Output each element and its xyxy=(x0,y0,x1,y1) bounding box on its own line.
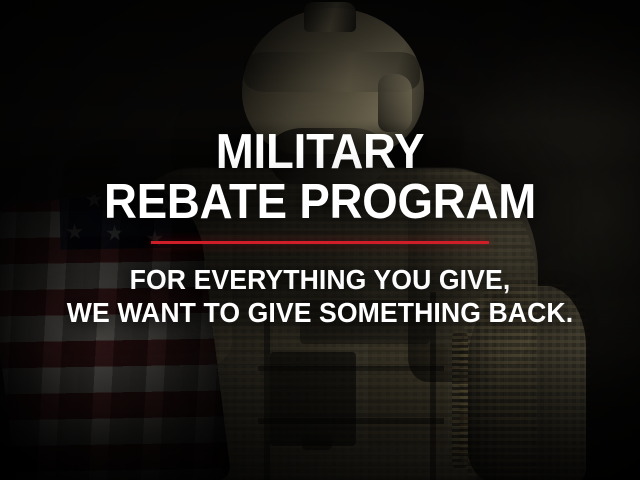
text-overlay: MILITARY REBATE PROGRAM FOR EVERYTHING Y… xyxy=(0,0,640,480)
headline-line-2: REBATE PROGRAM xyxy=(22,179,617,227)
red-divider-rule xyxy=(151,241,489,244)
subheadline-line-1: FOR EVERYTHING YOU GIVE, xyxy=(16,265,624,295)
military-rebate-program-banner: MILITARY REBATE PROGRAM FOR EVERYTHING Y… xyxy=(0,0,640,480)
headline-line-1: MILITARY xyxy=(22,129,617,177)
subheadline-line-2: WE WANT TO GIVE SOMETHING BACK. xyxy=(16,298,624,328)
